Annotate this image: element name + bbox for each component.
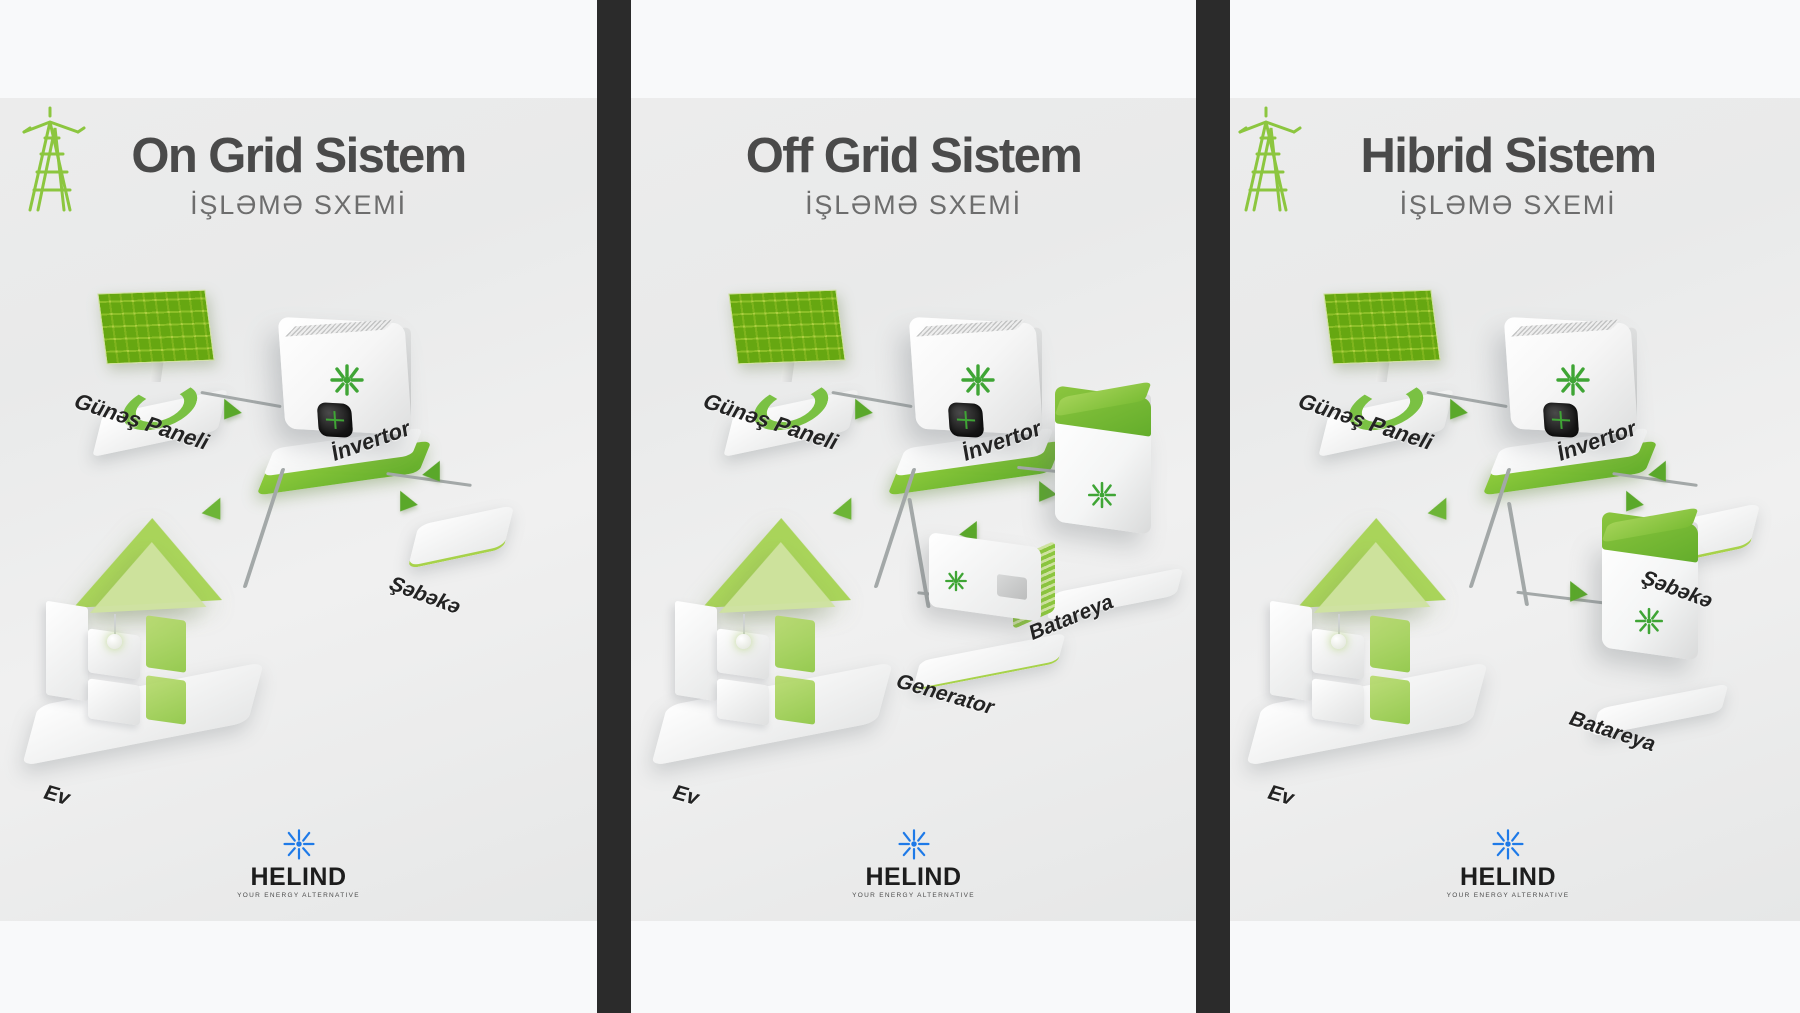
generator-logo-star-icon xyxy=(943,568,969,594)
heading-off-grid: Off Grid Sistem İŞLƏMƏ SXEMİ xyxy=(631,132,1196,221)
arrow-inverter-to-grid xyxy=(400,491,418,516)
grid-tower-plate xyxy=(408,505,515,569)
page-subtitle: İŞLƏMƏ SXEMİ xyxy=(631,190,1196,221)
panel-artboard-hybrid: Hibrid Sistem İŞLƏMƏ SXEMİ Günəş Paneli xyxy=(1230,98,1800,921)
lamp-stem xyxy=(743,614,745,636)
battery-logo-star-icon xyxy=(1085,478,1119,512)
solar-panel-cells xyxy=(1323,290,1440,365)
panel-bottom-margin xyxy=(0,921,597,1013)
inverter-logo-star-icon xyxy=(327,360,367,400)
brand-name: HELIND xyxy=(0,865,597,890)
panel-top-margin xyxy=(1230,0,1800,98)
arrow-solar-to-inverter xyxy=(855,399,873,424)
house-green-b xyxy=(146,675,186,725)
house-roof-inner xyxy=(90,539,210,613)
inverter-logo-star-icon xyxy=(1553,360,1593,400)
brand-logo-on-grid: HELIND YOUR ENERGY ALTERNATIVE xyxy=(0,827,597,899)
house-block-b xyxy=(1312,678,1364,725)
inverter-display xyxy=(1543,402,1580,438)
house-green-a xyxy=(775,615,815,673)
inverter-display xyxy=(948,402,985,438)
panel-on-grid: On Grid Sistem İŞLƏMƏ SXEMİ Günəş Paneli xyxy=(0,0,597,1013)
arrow-solar-to-inverter xyxy=(1450,399,1468,424)
label-house: Ev xyxy=(1263,782,1298,811)
brand-tagline: YOUR ENERGY ALTERNATIVE xyxy=(1230,892,1800,899)
panel-off-grid: Off Grid Sistem İŞLƏMƏ SXEMİ Günəş Panel… xyxy=(631,0,1196,1013)
brand-tagline: YOUR ENERGY ALTERNATIVE xyxy=(631,892,1196,899)
house-wall-left xyxy=(675,601,717,702)
panel-artboard-on-grid: On Grid Sistem İŞLƏMƏ SXEMİ Günəş Paneli xyxy=(0,98,597,921)
page-title: Off Grid Sistem xyxy=(631,132,1196,181)
house-block-b xyxy=(717,678,769,725)
panel-divider-1 xyxy=(597,0,631,1013)
arrow-inverter-to-grid xyxy=(1626,491,1644,516)
brand-name: HELIND xyxy=(1230,865,1800,890)
panel-artboard-off-grid: Off Grid Sistem İŞLƏMƏ SXEMİ Günəş Panel… xyxy=(631,98,1196,921)
panel-bottom-margin xyxy=(1230,921,1800,1013)
house-green-a xyxy=(146,615,186,673)
solar-panel-cells xyxy=(728,290,845,365)
panel-hybrid: Hibrid Sistem İŞLƏMƏ SXEMİ Günəş Paneli xyxy=(1230,0,1800,1013)
house-roof-inner xyxy=(719,539,839,613)
heading-on-grid: On Grid Sistem İŞLƏMƏ SXEMİ xyxy=(0,132,597,221)
house-roof-inner xyxy=(1314,539,1434,613)
house-wall-left xyxy=(46,601,88,702)
brand-tagline: YOUR ENERGY ALTERNATIVE xyxy=(0,892,597,899)
panel-bottom-margin xyxy=(631,921,1196,1013)
lamp-stem xyxy=(114,614,116,636)
arrow-solar-to-inverter xyxy=(224,399,242,424)
generator-vent xyxy=(997,574,1027,600)
scene-hybrid: Günəş Paneli xyxy=(1230,98,1800,921)
panel-top-margin xyxy=(0,0,597,98)
house-wall-left xyxy=(1270,601,1312,702)
house-block-b xyxy=(88,678,140,725)
arrow-grid-to-inverter xyxy=(1648,461,1666,486)
arrow-grid-to-inverter xyxy=(422,461,440,486)
brand-logo-hybrid: HELIND YOUR ENERGY ALTERNATIVE xyxy=(1230,827,1800,899)
lamp-stem xyxy=(1338,614,1340,636)
lamp-bulb-icon xyxy=(1331,634,1346,649)
house-green-a xyxy=(1370,615,1410,673)
page-subtitle: İŞLƏMƏ SXEMİ xyxy=(1230,190,1800,221)
infographic-stage: On Grid Sistem İŞLƏMƏ SXEMİ Günəş Paneli xyxy=(0,0,1800,1013)
scene-off-grid: Günəş Paneli xyxy=(631,98,1196,921)
panel-top-margin xyxy=(631,0,1196,98)
arrow-inverter-to-battery xyxy=(1570,581,1588,605)
helind-starburst-icon xyxy=(897,827,931,861)
label-grid: Şəbəkə xyxy=(384,573,466,619)
house-green-b xyxy=(775,675,815,725)
inverter-logo-star-icon xyxy=(958,360,998,400)
page-subtitle: İŞLƏMƏ SXEMİ xyxy=(0,190,597,221)
lamp-bulb-icon xyxy=(736,634,751,649)
battery-logo-star-icon xyxy=(1632,604,1666,638)
label-house: Ev xyxy=(668,782,703,811)
page-title: Hibrid Sistem xyxy=(1230,132,1800,181)
brand-name: HELIND xyxy=(631,865,1196,890)
scene-on-grid: Günəş Paneli xyxy=(0,98,597,921)
solar-panel-cells xyxy=(97,290,214,365)
house-green-b xyxy=(1370,675,1410,725)
page-title: On Grid Sistem xyxy=(0,132,597,181)
helind-starburst-icon xyxy=(1491,827,1525,861)
helind-starburst-icon xyxy=(282,827,316,861)
panel-divider-2 xyxy=(1196,0,1230,1013)
lamp-bulb-icon xyxy=(107,634,122,649)
label-house: Ev xyxy=(39,782,74,811)
heading-hybrid: Hibrid Sistem İŞLƏMƏ SXEMİ xyxy=(1230,132,1800,221)
inverter-display xyxy=(317,402,354,438)
brand-logo-off-grid: HELIND YOUR ENERGY ALTERNATIVE xyxy=(631,827,1196,899)
